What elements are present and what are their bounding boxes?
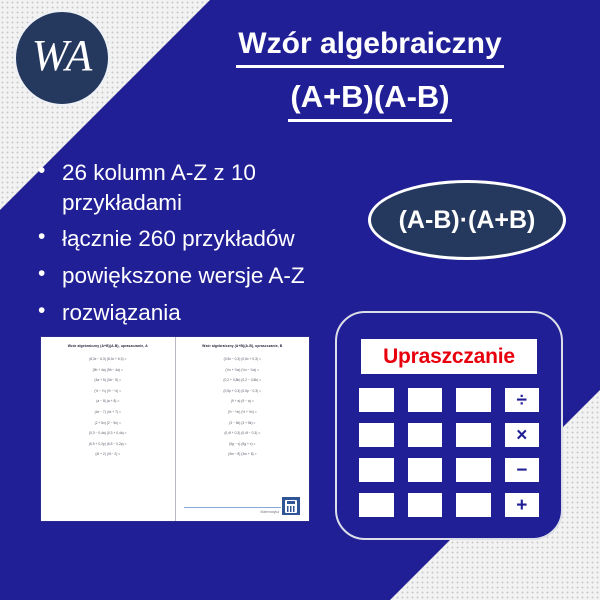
worksheet-line: (6,5 + 0,2p) (6,5 − 0,2p) = bbox=[49, 442, 167, 446]
formula-badge-text: (A-B)·(A+B) bbox=[399, 206, 536, 235]
formula-badge: (A-B)·(A+B) bbox=[368, 180, 566, 260]
worksheet-line: (0,4f + 0,3) (0,4f − 0,3) = bbox=[184, 431, 302, 435]
list-item: powiększone wersje A-Z bbox=[34, 261, 354, 291]
brand-logo: WA bbox=[14, 10, 110, 106]
page-title-line-1: Wzór algebraiczny bbox=[236, 24, 503, 68]
calculator-key-blank[interactable] bbox=[408, 388, 443, 412]
worksheet-line: (9b + 4a) (9b − 4a) = bbox=[49, 368, 167, 372]
worksheet-line: (5g − x) (5g + x) = bbox=[184, 442, 302, 446]
list-item: łącznie 260 przykładów bbox=[34, 224, 354, 254]
worksheet-page-b-header: Wzór algebraiczny (A+B)(A-B), upraszczan… bbox=[184, 344, 302, 348]
feature-list: 26 kolumn A-Z z 10 przykładami łącznie 2… bbox=[34, 158, 354, 334]
calculator-key-plus[interactable]: + bbox=[505, 493, 540, 517]
calculator-key-blank[interactable] bbox=[456, 423, 491, 447]
worksheet-line: (0,2 + 0,8b) (0,2 − 0,8b) = bbox=[184, 378, 302, 382]
calculator-key-multiply[interactable]: × bbox=[505, 423, 540, 447]
worksheet-line: (⅓x + ⅔a) (⅓x − ⅔a) = bbox=[184, 368, 302, 372]
list-item: 26 kolumn A-Z z 10 przykładami bbox=[34, 158, 354, 217]
calculator-key-blank[interactable] bbox=[456, 493, 491, 517]
calculator-display-text: Upraszczanie bbox=[383, 345, 515, 369]
worksheet-page-a-header: Wzór algebraiczny (A+B)(A-B), upraszczan… bbox=[49, 344, 167, 348]
list-item: rozwiązania bbox=[34, 298, 354, 328]
divide-icon: ÷ bbox=[517, 391, 527, 410]
worksheet-line: (0,5x − 0,3) (0,5x + 0,3) = bbox=[184, 357, 302, 361]
worksheet-line: (2 + 5x) (2 − 5x) = bbox=[49, 421, 167, 425]
calculator-key-blank[interactable] bbox=[359, 388, 394, 412]
worksheet-page-a: Wzór algebraiczny (A+B)(A-B), upraszczan… bbox=[41, 337, 175, 521]
calculator-key-blank[interactable] bbox=[359, 458, 394, 482]
worksheet-line: (4f + 2) (4f − 2) = bbox=[49, 452, 167, 456]
worksheet-line: (3m − 8) (3m + 8) = bbox=[184, 452, 302, 456]
page-title-line-2: (A+B)(A-B) bbox=[288, 77, 451, 122]
calculator-key-blank[interactable] bbox=[408, 423, 443, 447]
worksheet-line: (½ − ½r) (½ + ½r) = bbox=[184, 410, 302, 414]
plus-icon: + bbox=[516, 496, 527, 515]
calculator-icon-screen bbox=[287, 501, 295, 504]
minus-icon: − bbox=[516, 461, 527, 480]
worksheet-line: (9 + a) (9 − a) = bbox=[184, 399, 302, 403]
poster-canvas: WA Wzór algebraiczny (A+B)(A-B) 26 kolum… bbox=[0, 0, 600, 600]
page-title: Wzór algebraiczny (A+B)(A-B) bbox=[150, 24, 590, 122]
worksheet-line: (½ − ⅓) (½ − ⅓) = bbox=[49, 389, 167, 393]
calculator-keypad: ÷ × − + bbox=[359, 388, 539, 517]
worksheet-line: (3a + 5) (3a − 5) = bbox=[49, 378, 167, 382]
calculator-key-blank[interactable] bbox=[456, 458, 491, 482]
worksheet-preview[interactable]: Wzór algebraiczny (A+B)(A-B), upraszczan… bbox=[40, 336, 310, 522]
calculator-key-divide[interactable]: ÷ bbox=[505, 388, 540, 412]
calculator-key-blank[interactable] bbox=[408, 458, 443, 482]
calculator-key-blank[interactable] bbox=[456, 388, 491, 412]
calculator-icon-keys bbox=[287, 506, 295, 512]
multiply-icon: × bbox=[516, 426, 527, 445]
worksheet-line: (a − 8) (a + 8) = bbox=[49, 399, 167, 403]
calculator-graphic: Upraszczanie ÷ × − + bbox=[335, 311, 563, 540]
worksheet-line: (3 − 5k) (3 + 5k) = bbox=[184, 421, 302, 425]
calculator-key-blank[interactable] bbox=[359, 493, 394, 517]
calculator-key-minus[interactable]: − bbox=[505, 458, 540, 482]
worksheet-page-b: Wzór algebraiczny (A+B)(A-B), upraszczan… bbox=[175, 337, 310, 521]
calculator-key-blank[interactable] bbox=[408, 493, 443, 517]
worksheet-footer: Matematyka bbox=[184, 507, 302, 514]
brand-logo-text: WA bbox=[32, 34, 92, 82]
worksheet-line: (0,3 − 0,4a) (0,3 + 0,4a) = bbox=[49, 431, 167, 435]
calculator-icon bbox=[281, 496, 301, 516]
worksheet-line: (0,5p + 0,3) (0,5p − 0,3) = bbox=[184, 389, 302, 393]
calculator-key-blank[interactable] bbox=[359, 423, 394, 447]
calculator-icon-body bbox=[285, 500, 297, 513]
worksheet-line: (8,3x − 6,3) (8,3x + 6,3) = bbox=[49, 357, 167, 361]
calculator-display: Upraszczanie bbox=[361, 339, 537, 374]
worksheet-line: (4x − 7) (4x + 7) = bbox=[49, 410, 167, 414]
